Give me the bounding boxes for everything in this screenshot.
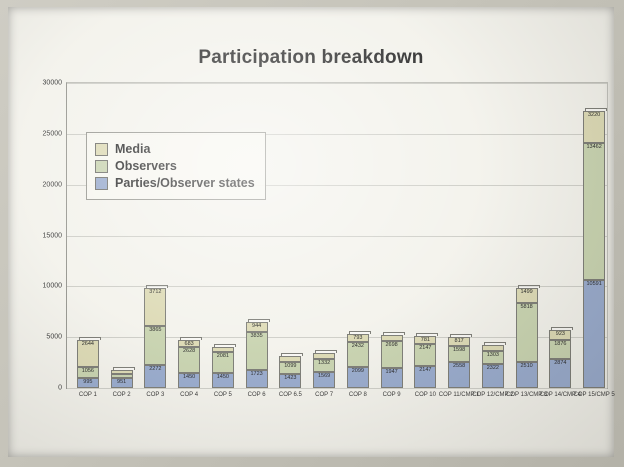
- bar-segment-observers: 1876: [549, 340, 571, 359]
- bar-segment-media: [279, 356, 301, 362]
- bar-segment-observers: 2081: [212, 352, 234, 373]
- legend-item: Media: [95, 142, 255, 156]
- bar-value-label: 2510: [517, 364, 537, 370]
- legend-label: Parties/Observer states: [115, 176, 255, 190]
- bar-segment-media: [212, 347, 234, 352]
- y-axis-tick-label: 25000: [43, 130, 62, 137]
- bar-segment-observers: 2147: [414, 344, 436, 366]
- bar-top-cap: [484, 342, 506, 345]
- bar-segment-observers: 1303: [482, 351, 504, 364]
- bar-top-cap: [383, 332, 405, 335]
- bar-segment-media: [313, 353, 335, 359]
- legend-swatch: [95, 160, 108, 173]
- bar-segment-media: 3220: [583, 111, 605, 144]
- bar-segment-media: 923: [549, 330, 571, 339]
- bar-value-label: 944: [247, 324, 267, 330]
- bar-top-cap: [585, 108, 607, 111]
- bar-value-label: 1450: [179, 375, 199, 381]
- bar-value-label: 923: [550, 332, 570, 338]
- bar-value-label: 793: [348, 336, 368, 342]
- bar-value-label: 2644: [78, 342, 98, 348]
- legend-label: Media: [115, 142, 150, 156]
- bar-top-cap: [551, 327, 573, 330]
- bar-value-label: 5818: [517, 305, 537, 311]
- bar-value-label: 2099: [348, 369, 368, 375]
- bar-top-cap: [281, 353, 303, 356]
- bar-segment-observers: 1332: [313, 359, 335, 373]
- legend-swatch: [95, 143, 108, 156]
- bar-segment-media: [381, 335, 403, 341]
- bar-value-label: 2698: [382, 343, 402, 349]
- legend-label: Observers: [115, 159, 177, 173]
- bar-segment-media: 683: [178, 340, 200, 347]
- bar-segment-parties: 995: [77, 378, 99, 388]
- bar-top-cap: [518, 285, 540, 288]
- bar-segment-parties: 1450: [178, 373, 200, 388]
- bar-value-label: 3220: [584, 113, 604, 119]
- bar-segment-parties: 2147: [414, 366, 436, 388]
- bar-segment-observers: 3865: [144, 326, 166, 365]
- bar-value-label: 1423: [280, 376, 300, 382]
- bar-segment-observers: 5818: [516, 303, 538, 362]
- bar-top-cap: [79, 337, 101, 340]
- bar-segment-observers: 2628: [178, 347, 200, 374]
- bar-segment-observers: 1598: [448, 346, 470, 362]
- bar-segment-media: 1499: [516, 288, 538, 303]
- bar-value-label: 2628: [179, 349, 199, 355]
- bar-segment-media: 2644: [77, 340, 99, 367]
- bar-top-cap: [349, 331, 371, 334]
- bar-value-label: 1876: [550, 342, 570, 348]
- bar-value-label: 1099: [280, 364, 300, 370]
- bar-value-label: 2147: [415, 368, 435, 374]
- y-axis-tick-label: 30000: [43, 80, 62, 87]
- bar-segment-parties: 1947: [381, 368, 403, 388]
- bar-value-label: 781: [415, 338, 435, 344]
- bar-value-label: 1598: [449, 348, 469, 354]
- bar-value-label: 1947: [382, 370, 402, 376]
- bar-value-label: 3835: [247, 334, 267, 340]
- bar-segment-media: [111, 370, 133, 374]
- bar-segment-parties: 951: [111, 378, 133, 388]
- bar-value-label: 683: [179, 342, 199, 347]
- bar-segment-parties: 1723: [246, 370, 268, 388]
- bar-segment-media: 944: [246, 322, 268, 332]
- printed-chart-page: Participation breakdown 0500010000150002…: [8, 7, 614, 457]
- bar-value-label: 10591: [584, 282, 604, 288]
- bar-segment-observers: 13462: [583, 143, 605, 280]
- legend-swatch: [95, 177, 108, 190]
- y-axis-tick-label: 20000: [43, 181, 62, 188]
- bar-value-label: 1303: [483, 353, 503, 359]
- y-axis-tick-label: 0: [58, 385, 62, 392]
- bar-value-label: 995: [78, 380, 98, 386]
- bar-segment-observers: 2432: [347, 342, 369, 367]
- bar-value-label: 951: [112, 380, 132, 386]
- bar-top-cap: [416, 333, 438, 336]
- bar-segment-parties: 2272: [144, 365, 166, 388]
- chart-title: Participation breakdown: [8, 47, 614, 69]
- chart-legend: MediaObserversParties/Observer states: [86, 132, 266, 200]
- bar-value-label: 2432: [348, 344, 368, 350]
- y-axis-tick-label: 15000: [43, 232, 62, 239]
- bar-top-cap: [180, 337, 202, 340]
- bar-segment-observers: 1099: [279, 362, 301, 373]
- bar-segment-media: 817: [448, 337, 470, 345]
- bar-segment-media: [482, 345, 504, 351]
- x-axis-tick-label: COP 15/CMP 5: [571, 392, 617, 400]
- bar-segment-parties: 2510: [516, 362, 538, 388]
- bar-segment-observers: 3835: [246, 332, 268, 371]
- bar-segment-parties: 1450: [212, 373, 234, 388]
- bar-segment-media: 781: [414, 336, 436, 344]
- y-axis-tick-label: 5000: [46, 334, 62, 341]
- bar-top-cap: [248, 319, 270, 322]
- bar-value-label: 817: [449, 339, 469, 345]
- bar-top-cap: [450, 334, 472, 337]
- bar-segment-observers: 2698: [381, 341, 403, 368]
- plot-area: 050001000015000200002500030000 995105626…: [66, 82, 608, 389]
- bar-value-label: 3712: [145, 290, 165, 296]
- bar-segment-parties: 1423: [279, 374, 301, 388]
- bar-segment-media: 3712: [144, 288, 166, 326]
- bar-segment-parties: 2099: [347, 367, 369, 388]
- bar-value-label: 2272: [145, 367, 165, 373]
- bar-value-label: 2874: [550, 361, 570, 367]
- bar-value-label: 1450: [213, 375, 233, 381]
- legend-item: Observers: [95, 159, 255, 173]
- bar-top-cap: [113, 367, 135, 370]
- bar-value-label: 13462: [584, 145, 604, 151]
- bar-top-cap: [146, 285, 168, 288]
- bar-segment-observers: 1056: [77, 367, 99, 378]
- bar-segment-observers: [111, 374, 133, 378]
- bar-segment-parties: 2874: [549, 359, 571, 388]
- bar-value-label: 1332: [314, 361, 334, 367]
- bar-segment-parties: 1569: [313, 372, 335, 388]
- photo-background: Participation breakdown 0500010000150002…: [0, 0, 624, 467]
- bar-series-group: 99510562644COP 1951COP 2227238653712COP …: [67, 83, 607, 388]
- bar-segment-parties: 2322: [482, 364, 504, 388]
- legend-item: Parties/Observer states: [95, 176, 255, 190]
- bar-segment-parties: 10591: [583, 280, 605, 388]
- bar-value-label: 1499: [517, 290, 537, 296]
- bar-top-cap: [214, 344, 236, 347]
- y-axis-tick-label: 10000: [43, 283, 62, 290]
- bar-value-label: 3865: [145, 328, 165, 334]
- bar-value-label: 2322: [483, 366, 503, 372]
- bar-value-label: 1723: [247, 372, 267, 378]
- bar-segment-media: 793: [347, 334, 369, 342]
- bar-segment-parties: 2558: [448, 362, 470, 388]
- bar-top-cap: [315, 350, 337, 353]
- bar-value-label: 2558: [449, 364, 469, 370]
- bar-value-label: 1056: [78, 369, 98, 375]
- gridline: [67, 388, 607, 389]
- bar-value-label: 2081: [213, 354, 233, 360]
- bar-value-label: 1569: [314, 374, 334, 380]
- bar-value-label: 2147: [415, 346, 435, 352]
